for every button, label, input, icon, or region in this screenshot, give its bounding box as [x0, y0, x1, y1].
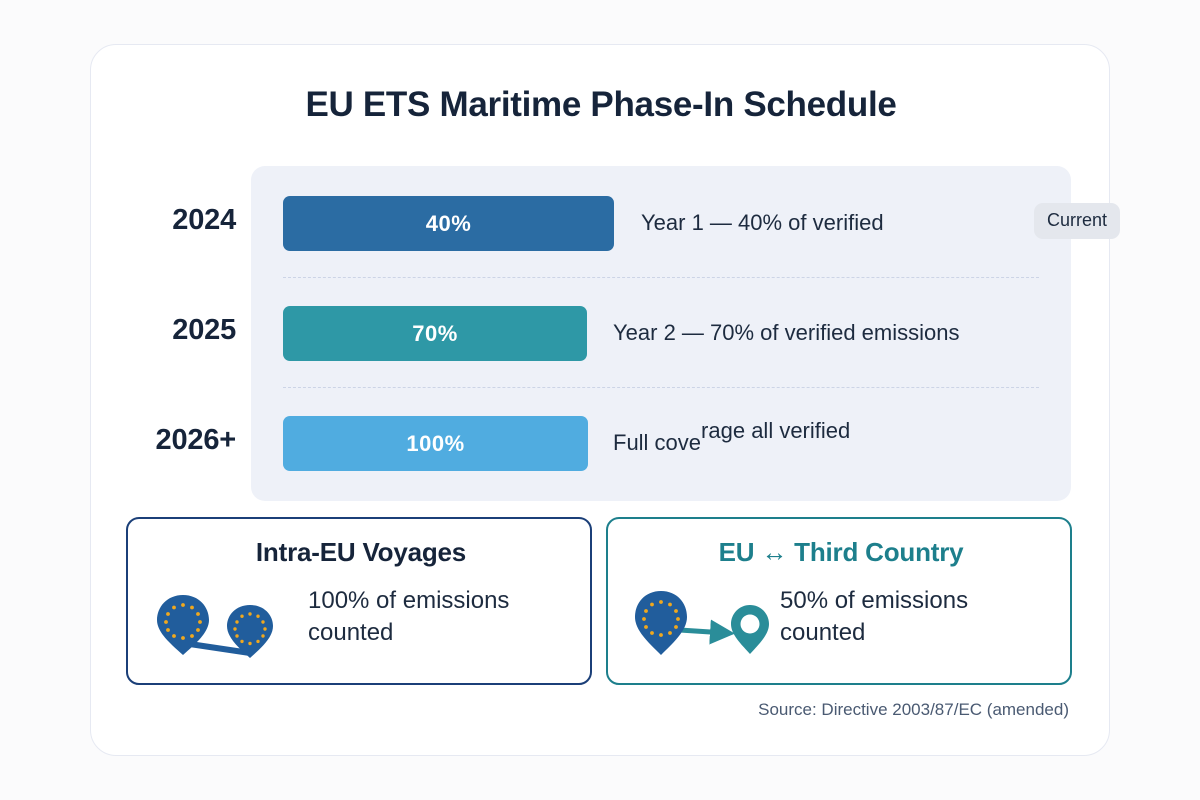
bar-percent-label-2025: 70% [283, 321, 587, 347]
progress-bar-2026: 100% [283, 416, 588, 471]
timeline-row-2026: 2026+ 100% Full coverage all verified [251, 388, 1071, 498]
row-description-2026-part-a: Full cove [613, 430, 701, 455]
scope-card-intra-eu-title: Intra-EU Voyages [128, 537, 594, 568]
scope-card-third-country-title: EU ↔ Third Country [608, 537, 1074, 568]
year-label-2024: 2024 [121, 204, 236, 237]
row-description-2026-part-b: rage all verified [701, 418, 850, 443]
page-title: EU ETS Maritime Phase-In Schedule [91, 85, 1111, 125]
progress-bar-2024: 40% [283, 196, 614, 251]
status-badge-current: Current [1034, 203, 1120, 239]
timeline-row-2025: 2025 70% Year 2 — 70% of verified emissi… [251, 278, 1071, 388]
source-note: Source: Directive 2003/87/EC (amended) [758, 700, 1069, 720]
bar-percent-label-2026: 100% [283, 431, 588, 457]
scope-card-intra-eu: Intra-EU Voyages [126, 517, 592, 685]
eu-pin-arrow-third-country-pin-icon [630, 581, 780, 666]
infographic-card: EU ETS Maritime Phase-In Schedule 2024 4… [90, 44, 1110, 756]
bar-percent-label-2024: 40% [283, 211, 614, 237]
timeline-row-2024: 2024 40% Year 1 — 40% of verified Curren… [251, 168, 1071, 278]
row-description-2024: Year 1 — 40% of verified [641, 210, 884, 236]
scope-card-intra-eu-text: 100% of emissions counted [308, 585, 578, 650]
row-description-2025: Year 2 — 70% of verified emissions [613, 320, 959, 346]
scope-card-third-country: EU ↔ Third Country [606, 517, 1072, 685]
timeline-panel: 2024 40% Year 1 — 40% of verified Curren… [251, 166, 1071, 501]
scope-card-third-country-text: 50% of emissions counted [780, 585, 1060, 650]
progress-bar-2025: 70% [283, 306, 587, 361]
two-eu-pins-connected-icon [150, 581, 300, 666]
year-label-2026: 2026+ [121, 424, 236, 457]
year-label-2025: 2025 [121, 314, 236, 347]
row-description-2026: Full coverage all verified [613, 430, 850, 456]
